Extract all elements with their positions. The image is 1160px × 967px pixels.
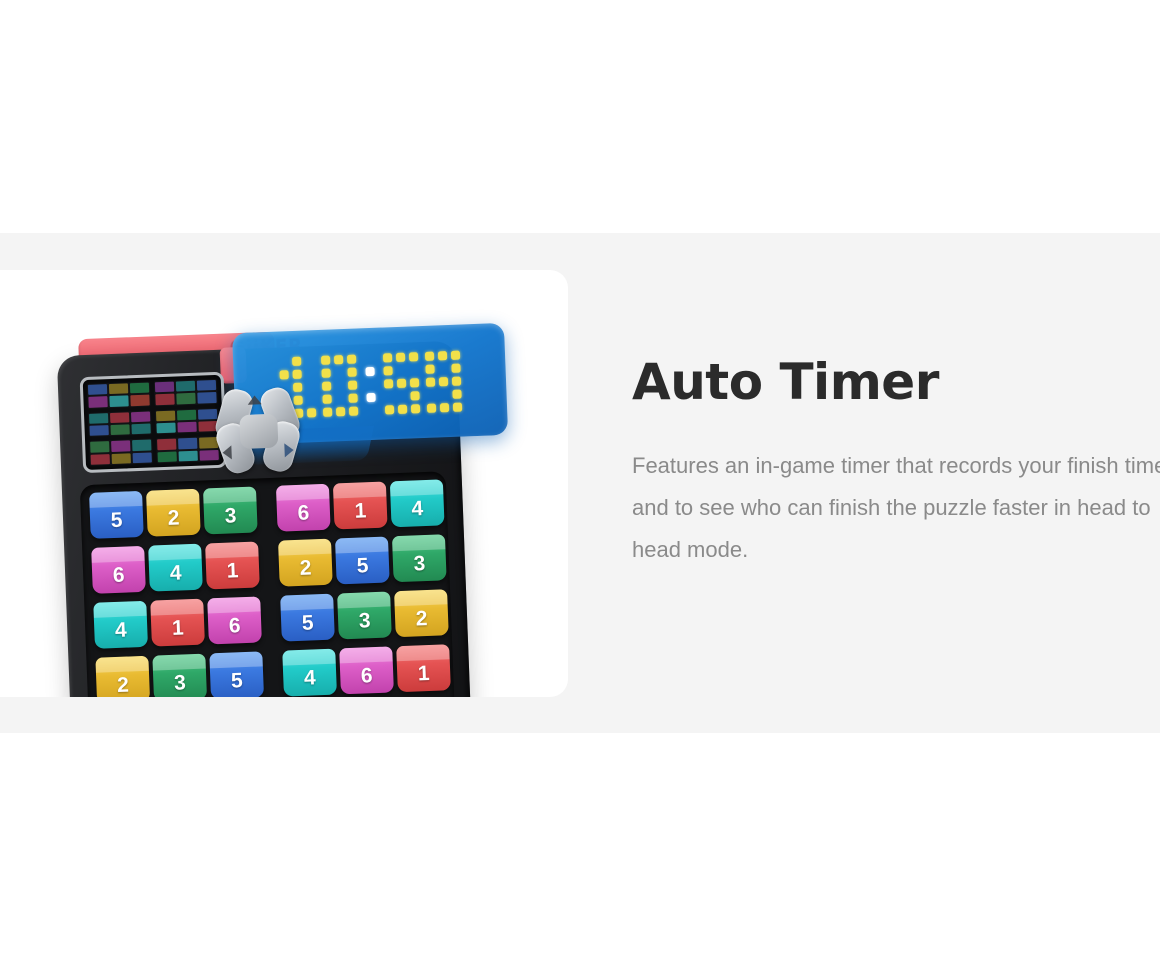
led-dot	[365, 366, 374, 375]
led-dot	[334, 381, 343, 390]
led-dot	[452, 389, 461, 398]
minimap-swatch	[157, 439, 176, 450]
minimap-swatch	[88, 396, 107, 407]
led-dot	[366, 392, 375, 401]
number-tile[interactable]: 5	[280, 594, 335, 642]
tray-divider	[260, 486, 274, 535]
minimap-swatch	[155, 394, 174, 405]
number-tile[interactable]: 6	[276, 484, 331, 532]
led-dot	[348, 393, 357, 402]
led-dot	[322, 407, 331, 416]
feature-description: Features an in-game timer that records y…	[632, 445, 1160, 571]
led-dot	[450, 350, 459, 359]
led-dot	[451, 363, 460, 372]
led-dot	[438, 364, 447, 373]
tray-divider	[264, 596, 278, 645]
led-dot	[320, 355, 329, 364]
led-dot	[439, 390, 448, 399]
number-tile[interactable]: 3	[392, 534, 447, 582]
number-tile[interactable]: 4	[390, 479, 445, 527]
minimap-swatch	[179, 450, 198, 461]
arrow-up-icon[interactable]	[247, 395, 261, 405]
led-dot	[383, 366, 392, 375]
led-dot	[306, 395, 315, 404]
number-tile[interactable]: 2	[394, 589, 449, 637]
minimap-swatch	[91, 454, 110, 465]
minimap-swatch	[176, 381, 195, 392]
product-image-card: GiiKER	[0, 270, 568, 697]
led-dot	[335, 394, 344, 403]
timer-colon	[364, 353, 375, 414]
minimap-swatch	[132, 440, 151, 451]
minimap-swatch	[111, 441, 130, 452]
led-dot	[291, 356, 300, 365]
led-dot	[437, 351, 446, 360]
led-dot	[396, 365, 405, 374]
number-tile[interactable]: 6	[91, 546, 146, 594]
led-dot	[321, 368, 330, 377]
led-dot	[279, 370, 288, 379]
led-dot	[438, 377, 447, 386]
led-dot	[426, 403, 435, 412]
led-dot	[322, 394, 331, 403]
minimap-swatch	[176, 393, 195, 404]
led-dot	[321, 381, 330, 390]
led-dot	[334, 368, 343, 377]
number-tile[interactable]: 6	[207, 596, 262, 644]
minimap-swatch	[90, 441, 109, 452]
minimap-block	[154, 379, 218, 406]
minimap-swatch	[131, 411, 150, 422]
minimap-block	[87, 381, 151, 408]
minimap-swatch	[89, 413, 108, 424]
minimap-swatch	[112, 453, 131, 464]
number-tile[interactable]: 4	[282, 649, 337, 697]
minimap-swatch	[130, 395, 149, 406]
dpad-hub[interactable]	[239, 414, 278, 449]
tray-divider	[262, 541, 276, 590]
timer-digit-0	[320, 354, 357, 416]
led-dot	[425, 377, 434, 386]
minimap-swatch	[158, 451, 177, 462]
led-dot	[333, 355, 342, 364]
product-photo: GiiKER	[0, 270, 568, 697]
number-tile[interactable]: 5	[335, 536, 390, 584]
led-dot	[335, 407, 344, 416]
minimap-display	[80, 372, 228, 473]
number-tile[interactable]: 4	[148, 544, 203, 592]
minimap-swatch	[88, 384, 107, 395]
arrow-left-icon[interactable]	[222, 445, 232, 459]
led-dot	[452, 402, 461, 411]
led-dot	[426, 390, 435, 399]
led-dot	[408, 352, 417, 361]
led-dot	[348, 406, 357, 415]
number-tile[interactable]: 3	[152, 654, 207, 697]
feature-title: Auto Timer	[632, 355, 1160, 409]
led-dot	[425, 364, 434, 373]
led-dot	[304, 356, 313, 365]
minimap-swatch	[177, 409, 196, 420]
led-dot	[306, 408, 315, 417]
led-dot	[305, 382, 314, 391]
number-tile[interactable]: 3	[203, 487, 258, 535]
number-tile[interactable]: 1	[150, 599, 205, 647]
led-dot	[384, 405, 393, 414]
led-dot	[410, 404, 419, 413]
dpad-control[interactable]	[214, 387, 303, 474]
number-tile[interactable]: 6	[339, 646, 394, 694]
giiker-puzzle-device: GiiKER	[56, 324, 492, 697]
led-dot	[382, 353, 391, 362]
led-dot	[292, 369, 301, 378]
led-dot	[347, 367, 356, 376]
timer-digit-9	[424, 350, 461, 412]
number-tile[interactable]: 5	[209, 651, 264, 697]
led-dot	[383, 379, 392, 388]
arrow-right-icon[interactable]	[284, 443, 294, 457]
led-dot	[409, 378, 418, 387]
minimap-swatch	[110, 412, 129, 423]
minimap-swatch	[109, 383, 128, 394]
page-root: GiiKER	[0, 0, 1160, 967]
led-dot	[364, 353, 373, 362]
led-dot	[366, 405, 375, 414]
number-tile[interactable]: 1	[396, 644, 451, 692]
minimap-swatch	[156, 423, 175, 434]
led-dot	[347, 380, 356, 389]
tile-grid: 523614641253416532235461	[89, 480, 447, 697]
led-dot	[410, 391, 419, 400]
minimap-swatch	[177, 422, 196, 433]
led-dot	[424, 351, 433, 360]
number-tile[interactable]: 1	[205, 541, 260, 589]
led-dot	[397, 404, 406, 413]
feature-text-column: Auto Timer Features an in-game timer tha…	[632, 355, 1160, 571]
led-dot	[305, 369, 314, 378]
minimap-block	[156, 436, 220, 463]
minimap-swatch	[133, 452, 152, 463]
minimap-block	[88, 410, 152, 437]
feature-band: GiiKER	[0, 233, 1160, 733]
number-tile[interactable]: 2	[95, 656, 150, 697]
number-tile[interactable]: 2	[278, 539, 333, 587]
led-dot	[395, 352, 404, 361]
minimap-swatch	[89, 425, 108, 436]
minimap-swatch	[131, 423, 150, 434]
tile-tray: 523614641253416532235461	[80, 471, 456, 697]
led-dot	[365, 379, 374, 388]
number-tile[interactable]: 4	[93, 601, 148, 649]
timer-digit-5	[382, 352, 419, 414]
led-dot	[278, 357, 287, 366]
minimap-swatch	[109, 396, 128, 407]
number-tile[interactable]: 3	[337, 591, 392, 639]
number-tile[interactable]: 5	[89, 491, 144, 539]
minimap-block	[89, 439, 153, 466]
tray-divider	[266, 651, 280, 697]
led-dot	[384, 392, 393, 401]
minimap-swatch	[130, 383, 149, 394]
led-dot	[439, 403, 448, 412]
led-dot	[346, 354, 355, 363]
minimap-swatch	[156, 410, 175, 421]
led-dot	[397, 391, 406, 400]
number-tile[interactable]: 1	[333, 482, 388, 530]
minimap-swatch	[155, 382, 174, 393]
minimap-swatch	[110, 424, 129, 435]
led-dot	[451, 376, 460, 385]
minimap-block	[155, 408, 219, 435]
led-dot	[409, 365, 418, 374]
led-dot	[396, 378, 405, 387]
minimap-swatch	[178, 438, 197, 449]
number-tile[interactable]: 2	[146, 489, 201, 537]
